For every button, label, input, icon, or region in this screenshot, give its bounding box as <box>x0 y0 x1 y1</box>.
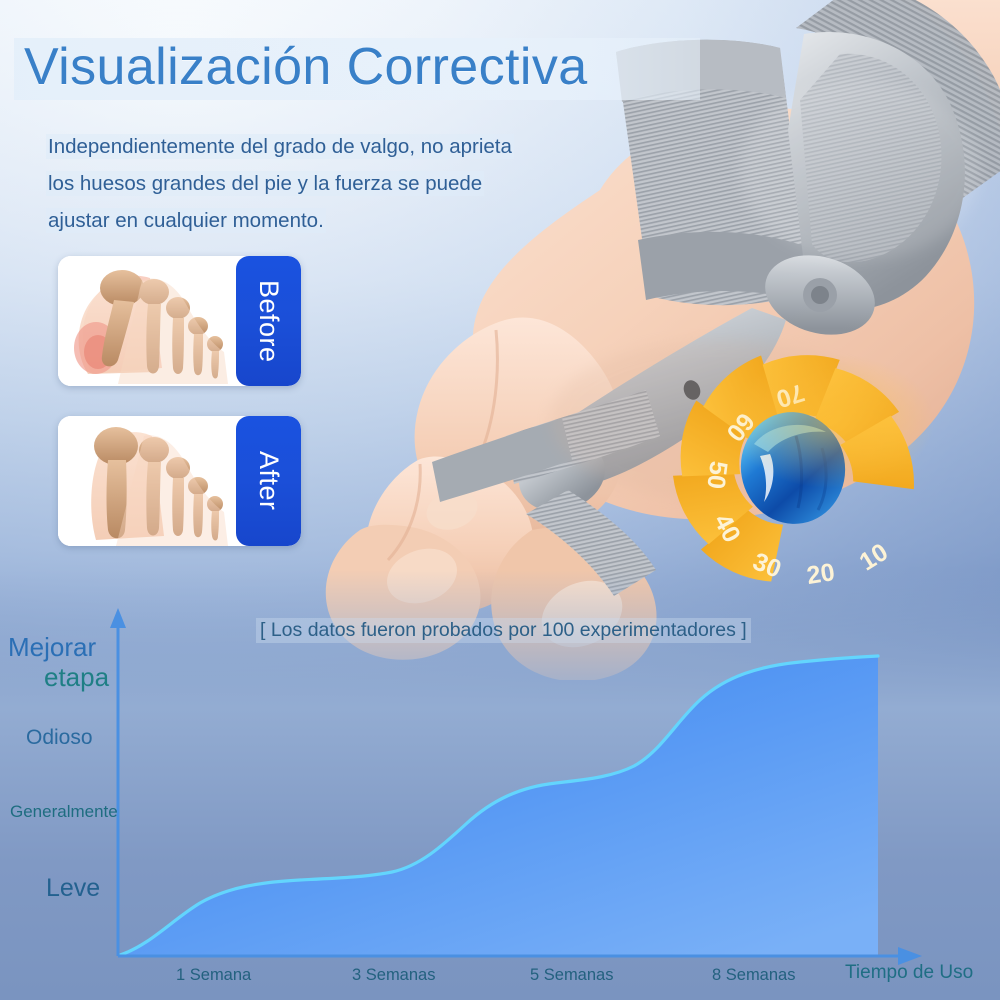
x-tick-week-1: 1 Semana <box>176 966 251 985</box>
poster: Visualización Correctiva Independienteme… <box>0 0 1000 1000</box>
x-tick-week-3: 3 Semanas <box>352 966 435 985</box>
after-card: After <box>58 416 301 546</box>
x-axis-title: Tiempo de Uso <box>845 962 973 984</box>
after-illustration <box>58 416 236 546</box>
chart-area <box>120 656 878 955</box>
subtitle: Independientemente del grado de valgo, n… <box>46 128 626 239</box>
force-dial: 10 20 30 40 50 60 70 <box>676 352 926 602</box>
y-axis-arrow <box>110 608 126 628</box>
y-axis-title-line1: Mejorar <box>8 632 96 663</box>
y-tick-leve: Leve <box>46 874 100 903</box>
improvement-chart <box>0 600 1000 1000</box>
subtitle-line-3: ajustar en cualquier momento. <box>46 208 326 233</box>
x-tick-week-8: 8 Semanas <box>712 966 795 985</box>
before-badge-label: Before <box>236 256 301 386</box>
y-tick-odioso: Odioso <box>26 726 93 750</box>
dial-label-50: 50 <box>701 459 732 490</box>
subtitle-line-1: Independientemente del grado de valgo, n… <box>46 134 514 159</box>
before-illustration <box>58 256 236 386</box>
y-tick-generalmente: Generalmente <box>10 802 118 822</box>
x-tick-week-5: 5 Semanas <box>530 966 613 985</box>
subtitle-line-2: los huesos grandes del pie y la fuerza s… <box>46 171 484 196</box>
dial-label-20: 20 <box>805 558 837 590</box>
before-card: Before <box>58 256 301 386</box>
dial-label-10: 10 <box>855 538 893 576</box>
after-badge-label: After <box>236 416 301 546</box>
page-title: Visualización Correctiva <box>24 36 588 98</box>
y-axis-title-line2: etapa <box>44 662 109 693</box>
